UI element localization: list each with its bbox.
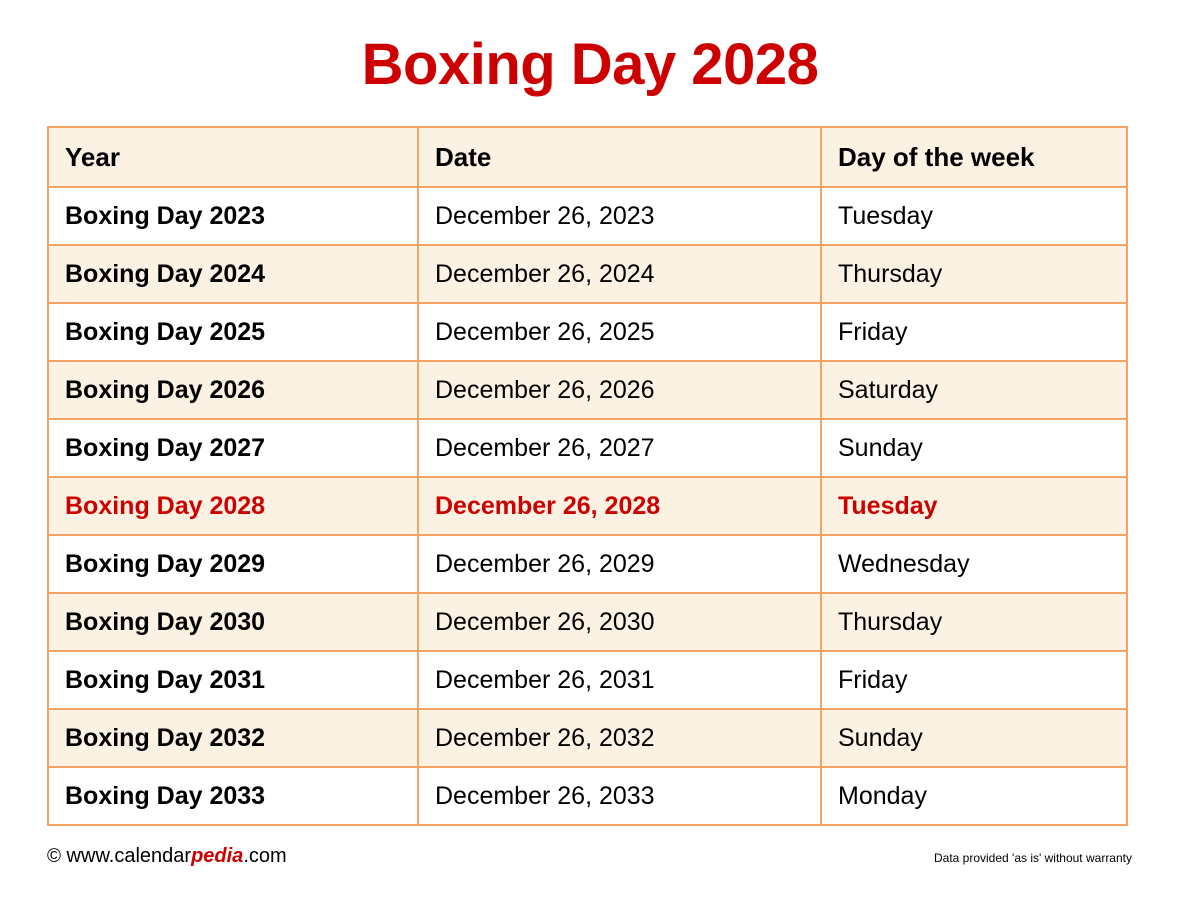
cell-year: Boxing Day 2027 bbox=[48, 419, 418, 477]
cell-year: Boxing Day 2023 bbox=[48, 187, 418, 245]
brand-accent-text: pedia bbox=[191, 845, 243, 867]
table-row-highlighted: Boxing Day 2028December 26, 2028Tuesday bbox=[48, 477, 1127, 535]
cell-day-of-week: Tuesday bbox=[821, 187, 1127, 245]
copyright-icon: © bbox=[47, 846, 61, 867]
cell-day-of-week: Wednesday bbox=[821, 535, 1127, 593]
copyright-notice: © www.calendarpedia.com bbox=[47, 845, 287, 868]
holiday-page: Boxing Day 2028 Year Date Day of the wee… bbox=[0, 0, 1180, 923]
cell-year: Boxing Day 2031 bbox=[48, 651, 418, 709]
table-row: Boxing Day 2026December 26, 2026Saturday bbox=[48, 361, 1127, 419]
cell-year: Boxing Day 2032 bbox=[48, 709, 418, 767]
cell-date: December 26, 2028 bbox=[418, 477, 821, 535]
cell-year: Boxing Day 2029 bbox=[48, 535, 418, 593]
cell-day-of-week: Thursday bbox=[821, 593, 1127, 651]
cell-date: December 26, 2023 bbox=[418, 187, 821, 245]
cell-day-of-week: Sunday bbox=[821, 709, 1127, 767]
cell-day-of-week: Sunday bbox=[821, 419, 1127, 477]
table-row: Boxing Day 2023December 26, 2023Tuesday bbox=[48, 187, 1127, 245]
column-header-day-of-week: Day of the week bbox=[821, 127, 1127, 187]
cell-date: December 26, 2033 bbox=[418, 767, 821, 825]
cell-date: December 26, 2027 bbox=[418, 419, 821, 477]
cell-year: Boxing Day 2024 bbox=[48, 245, 418, 303]
cell-date: December 26, 2029 bbox=[418, 535, 821, 593]
cell-day-of-week: Friday bbox=[821, 303, 1127, 361]
holiday-table: Year Date Day of the week Boxing Day 202… bbox=[47, 126, 1128, 826]
table-body: Boxing Day 2023December 26, 2023TuesdayB… bbox=[48, 187, 1127, 825]
table-header: Year Date Day of the week bbox=[48, 127, 1127, 187]
cell-date: December 26, 2030 bbox=[418, 593, 821, 651]
cell-year: Boxing Day 2026 bbox=[48, 361, 418, 419]
cell-day-of-week: Monday bbox=[821, 767, 1127, 825]
table-row: Boxing Day 2029December 26, 2029Wednesda… bbox=[48, 535, 1127, 593]
cell-year: Boxing Day 2025 bbox=[48, 303, 418, 361]
cell-date: December 26, 2032 bbox=[418, 709, 821, 767]
table-header-row: Year Date Day of the week bbox=[48, 127, 1127, 187]
cell-year: Boxing Day 2030 bbox=[48, 593, 418, 651]
column-header-year: Year bbox=[48, 127, 418, 187]
holiday-table-container: Year Date Day of the week Boxing Day 202… bbox=[47, 126, 1128, 826]
table-row: Boxing Day 2033December 26, 2033Monday bbox=[48, 767, 1127, 825]
table-row: Boxing Day 2024December 26, 2024Thursday bbox=[48, 245, 1127, 303]
disclaimer-text: Data provided 'as is' without warranty bbox=[934, 851, 1132, 868]
cell-day-of-week: Friday bbox=[821, 651, 1127, 709]
table-row: Boxing Day 2027December 26, 2027Sunday bbox=[48, 419, 1127, 477]
table-row: Boxing Day 2025December 26, 2025Friday bbox=[48, 303, 1127, 361]
copyright-prefix-text: www.calendar bbox=[61, 845, 191, 867]
table-row: Boxing Day 2031December 26, 2031Friday bbox=[48, 651, 1127, 709]
cell-date: December 26, 2024 bbox=[418, 245, 821, 303]
copyright-suffix-text: .com bbox=[243, 845, 286, 867]
cell-day-of-week: Thursday bbox=[821, 245, 1127, 303]
column-header-date: Date bbox=[418, 127, 821, 187]
cell-date: December 26, 2025 bbox=[418, 303, 821, 361]
cell-day-of-week: Saturday bbox=[821, 361, 1127, 419]
cell-day-of-week: Tuesday bbox=[821, 477, 1127, 535]
page-footer: © www.calendarpedia.com Data provided 'a… bbox=[47, 845, 1132, 868]
cell-year: Boxing Day 2028 bbox=[48, 477, 418, 535]
cell-date: December 26, 2031 bbox=[418, 651, 821, 709]
page-title: Boxing Day 2028 bbox=[0, 0, 1180, 94]
cell-year: Boxing Day 2033 bbox=[48, 767, 418, 825]
table-row: Boxing Day 2030December 26, 2030Thursday bbox=[48, 593, 1127, 651]
table-row: Boxing Day 2032December 26, 2032Sunday bbox=[48, 709, 1127, 767]
cell-date: December 26, 2026 bbox=[418, 361, 821, 419]
